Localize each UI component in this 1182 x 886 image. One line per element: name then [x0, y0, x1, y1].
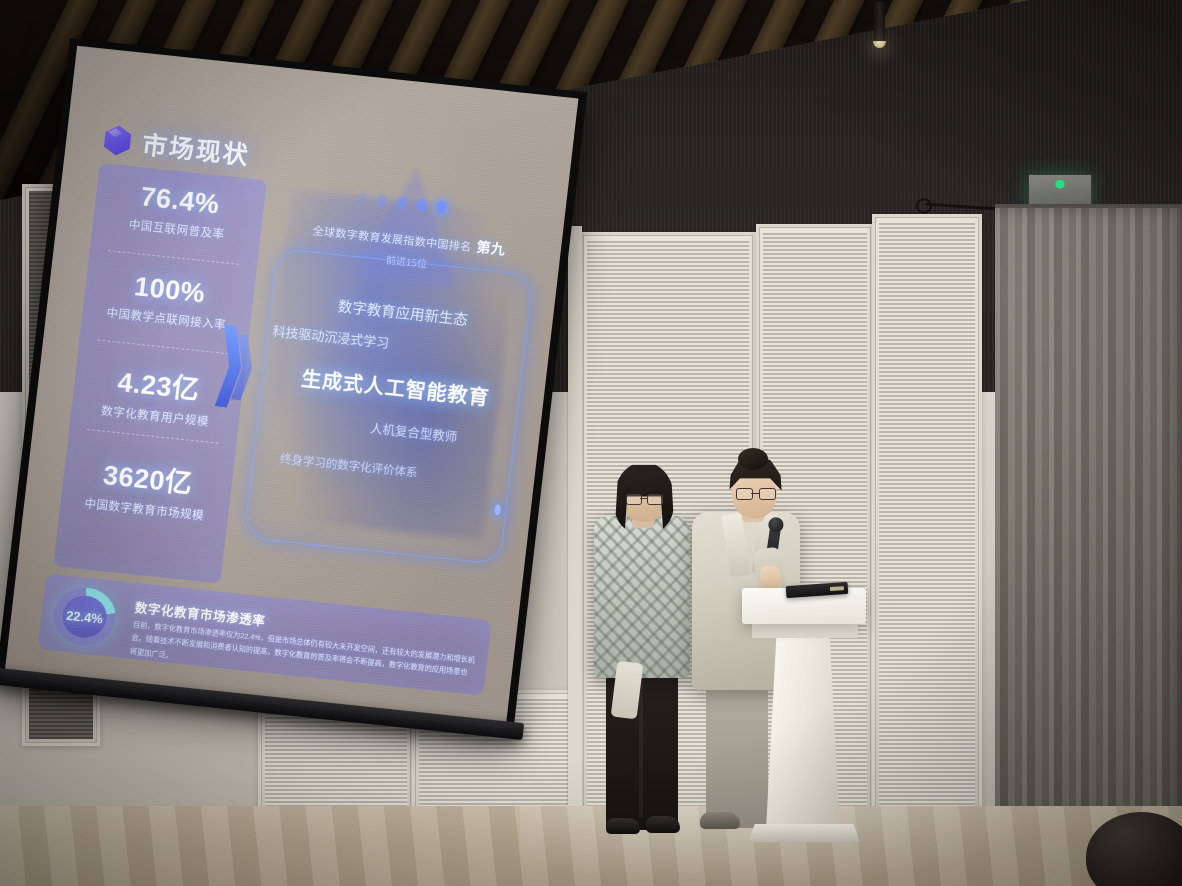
screen-surface: 市场现状 76.4% 中国互联网普及率	[4, 46, 578, 728]
ranking-value: 第九	[476, 239, 506, 258]
cloud-term: 数字教育应用新生态	[337, 296, 469, 331]
cloud-term-primary: 生成式人工智能教育	[300, 362, 491, 411]
window-bay-5	[872, 214, 982, 830]
exit-sign	[1028, 174, 1092, 207]
page-title: 市场现状	[140, 125, 252, 172]
keyword-cloud-card: 数字教育应用新生态 科技驱动沉浸式学习 生成式人工智能教育 人机复合型教师 终身…	[244, 248, 534, 565]
slide-content: 市场现状 76.4% 中国互联网普及率	[4, 46, 578, 728]
chevron-arrow-icon	[215, 325, 264, 411]
cloud-term: 科技驱动沉浸式学习	[272, 321, 391, 352]
stat-item: 3620亿 中国数字教育市场规模	[60, 449, 234, 526]
window-curtain	[995, 208, 1182, 836]
decorative-dots	[357, 192, 447, 214]
screen-frame: 市场现状 76.4% 中国互联网普及率	[0, 38, 587, 736]
projection-screen: 市场现状 76.4% 中国互联网普及率	[0, 38, 612, 790]
cloud-term: 终身学习的数字化评价体系	[279, 450, 418, 480]
glasses-icon	[736, 488, 774, 498]
donut-value: 22.4%	[65, 607, 103, 626]
exit-running-man-icon	[1050, 180, 1070, 202]
glasses-icon	[626, 494, 662, 503]
pendant-light	[874, 2, 885, 44]
presentation-photo: 市场现状 76.4% 中国互联网普及率	[0, 0, 1182, 886]
cloud-term: 人机复合型教师	[369, 418, 458, 446]
stat-item: 76.4% 中国互联网普及率	[92, 177, 265, 246]
cube-icon	[103, 124, 132, 157]
